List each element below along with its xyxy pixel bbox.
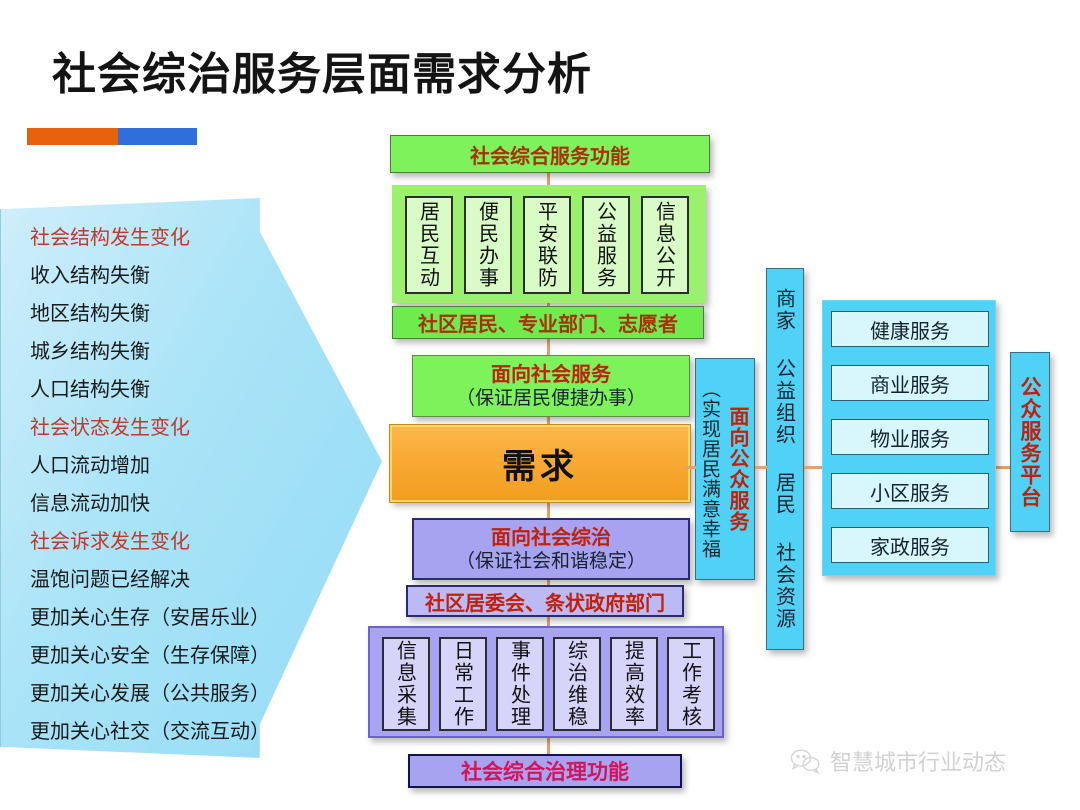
service-item[interactable]: 健康服务 [831,311,989,347]
list-item: 更加关心安全（生存保障） [30,636,330,674]
list-item: 地区结构失衡 [30,294,330,332]
social-service-subtitle: （保证居民便捷办事） [456,387,646,411]
social-governance-subtitle: （保证社会和谐稳定） [456,550,646,574]
connector-services-platform [996,466,1010,469]
service-function-header: 社会综合服务功能 [390,135,710,173]
connector-center-publicservice [684,466,696,469]
service-actors-strip: 社区居民、专业部门、志愿者 [392,306,704,339]
service-item[interactable]: 小区服务 [831,473,989,509]
slide-canvas: 社会综治服务层面需求分析 社会结构发生变化 收入结构失衡 地区结构失衡 城乡结构… [0,0,1080,810]
list-item: 人口结构失衡 [30,370,330,408]
list-item: 更加关心社交（交流互动） [30,712,330,750]
accent-bar [27,128,197,145]
services-panel: 健康服务 商业服务 物业服务 小区服务 家政服务 [822,300,996,576]
page-title: 社会综治服务层面需求分析 [52,38,592,102]
governance-cells-panel: 信息采集 日常工作 事件处理 综治维稳 提高效率 工作考核 [368,626,724,738]
governance-cell[interactable]: 综治维稳 [553,637,601,731]
service-item[interactable]: 商业服务 [831,365,989,401]
list-item: 人口流动增加 [30,446,330,484]
list-item: 社会状态发生变化 [30,408,330,446]
social-service-block: 面向社会服务 （保证居民便捷办事） [412,355,690,417]
resources-column: 商家 公益组织 居民 社会资源 [766,268,804,650]
list-item: 社会诉求发生变化 [30,522,330,560]
list-item: 信息流动加快 [30,484,330,522]
accent-bar-blue-segment [118,128,197,145]
demand-box: 需求 [390,425,690,502]
drivers-arrow-panel: 社会结构发生变化 收入结构失衡 地区结构失衡 城乡结构失衡 人口结构失衡 社会状… [0,198,382,758]
drivers-list: 社会结构发生变化 收入结构失衡 地区结构失衡 城乡结构失衡 人口结构失衡 社会状… [30,218,330,750]
list-item: 社会结构发生变化 [30,218,330,256]
governance-cell[interactable]: 事件处理 [496,637,544,731]
public-service-title: 面向公众服务 [724,406,753,532]
service-item[interactable]: 家政服务 [831,527,989,563]
watermark: 智慧城市行业动态 [790,745,1006,777]
list-item: 更加关心生存（安居乐业） [30,598,330,636]
service-cell[interactable]: 平安联防 [523,196,571,294]
social-governance-block: 面向社会综治 （保证社会和谐稳定） [412,518,690,580]
governance-actors-strip: 社区居委会、条状政府部门 [406,585,684,617]
connector-publicservice-resources [755,466,767,469]
accent-bar-orange-segment [27,128,118,145]
list-item: 收入结构失衡 [30,256,330,294]
watermark-text: 智慧城市行业动态 [830,745,1006,777]
wechat-icon [790,748,820,774]
governance-cell[interactable]: 提高效率 [610,637,658,731]
governance-cell[interactable]: 工作考核 [667,637,715,731]
governance-cell[interactable]: 信息采集 [382,637,430,731]
governance-cell[interactable]: 日常工作 [439,637,487,731]
list-item: 城乡结构失衡 [30,332,330,370]
public-service-subtitle: （实现居民满意幸福 [697,379,724,559]
list-item: 温饱问题已经解决 [30,560,330,598]
service-cell[interactable]: 公益服务 [582,196,630,294]
governance-function-footer: 社会综合治理功能 [408,754,682,788]
connector-resources-services [804,466,822,469]
list-item: 更加关心发展（公共服务） [30,674,330,712]
service-cells-panel: 居民互动 便民办事 平安联防 公益服务 信息公开 [392,185,706,303]
service-cell[interactable]: 居民互动 [405,196,453,294]
public-service-platform: 公众服务平台 [1010,352,1050,532]
social-service-title: 面向社会服务 [491,362,611,387]
social-governance-title: 面向社会综治 [491,525,611,550]
service-item[interactable]: 物业服务 [831,419,989,455]
service-cell[interactable]: 信息公开 [641,196,689,294]
service-cell[interactable]: 便民办事 [464,196,512,294]
public-service-orientation-box: 面向公众服务 （实现居民满意幸福 [695,358,755,580]
